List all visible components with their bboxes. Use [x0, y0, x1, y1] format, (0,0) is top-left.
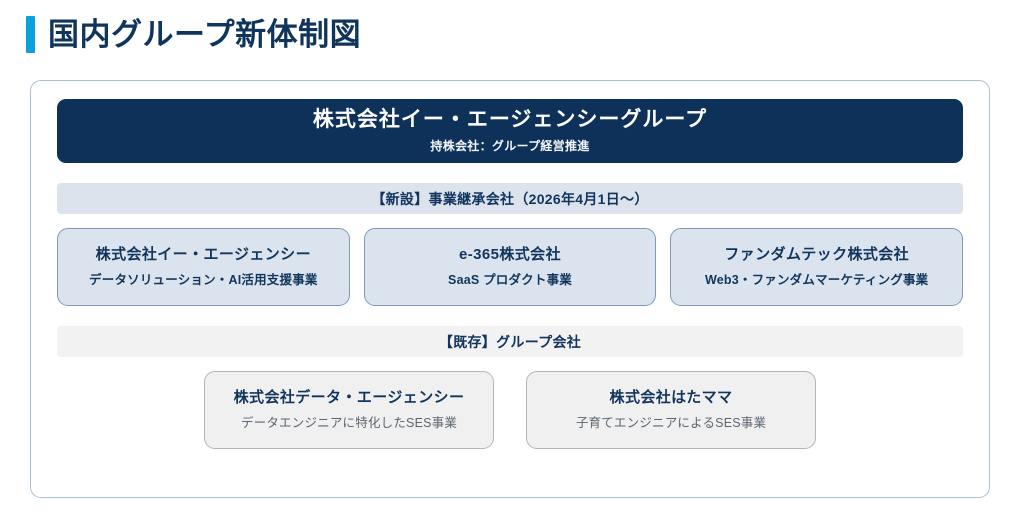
company-name: 株式会社はたママ — [610, 389, 733, 407]
company-card: ファンダムテック株式会社 Web3・ファンダムマーケティング事業 — [670, 228, 963, 306]
company-business: SaaS プロダクト事業 — [448, 273, 572, 288]
page-title: 国内グループ新体制図 — [48, 19, 361, 50]
company-card: 株式会社はたママ 子育てエンジニアによるSES事業 — [526, 371, 816, 449]
company-business: 子育てエンジニアによるSES事業 — [576, 416, 766, 431]
holding-company-role: 持株会社：グループ経営推進 — [430, 137, 589, 154]
org-chart-container: 株式会社イー・エージェンシーグループ 持株会社：グループ経営推進 【新設】事業継… — [30, 80, 990, 498]
company-name: 株式会社データ・エージェンシー — [234, 389, 465, 407]
holding-company-box: 株式会社イー・エージェンシーグループ 持株会社：グループ経営推進 — [57, 99, 963, 163]
org-chart-page: 国内グループ新体制図 株式会社イー・エージェンシーグループ 持株会社：グループ経… — [0, 0, 1020, 525]
section-band-existing: 【既存】グループ会社 — [57, 326, 963, 357]
company-business: データソリューション・AI活用支援事業 — [89, 273, 318, 288]
company-name: ファンダムテック株式会社 — [724, 246, 909, 264]
title-accent-bar — [26, 16, 35, 53]
section-band-new: 【新設】事業継承会社（2026年4月1日〜） — [57, 183, 963, 214]
new-companies-row: 株式会社イー・エージェンシー データソリューション・AI活用支援事業 e-365… — [57, 228, 963, 306]
company-card: 株式会社データ・エージェンシー データエンジニアに特化したSES事業 — [204, 371, 494, 449]
company-business: データエンジニアに特化したSES事業 — [241, 416, 457, 431]
company-card: e-365株式会社 SaaS プロダクト事業 — [364, 228, 657, 306]
company-name: e-365株式会社 — [459, 246, 561, 264]
company-business: Web3・ファンダムマーケティング事業 — [705, 273, 928, 288]
holding-company-name: 株式会社イー・エージェンシーグループ — [313, 108, 707, 131]
existing-companies-row: 株式会社データ・エージェンシー データエンジニアに特化したSES事業 株式会社は… — [57, 371, 963, 449]
company-name: 株式会社イー・エージェンシー — [96, 246, 311, 264]
page-title-row: 国内グループ新体制図 — [0, 0, 1020, 52]
company-card: 株式会社イー・エージェンシー データソリューション・AI活用支援事業 — [57, 228, 350, 306]
